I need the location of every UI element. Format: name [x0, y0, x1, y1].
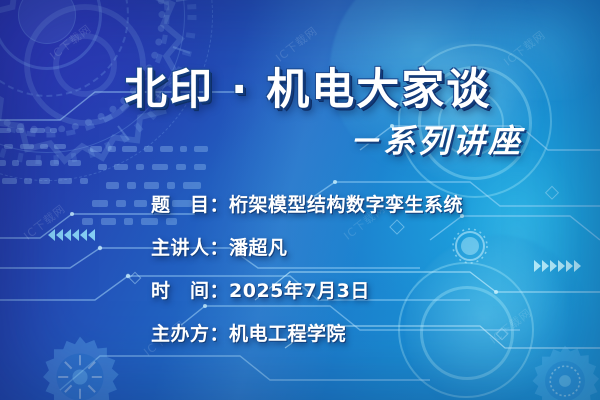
chevron-left-arrows-icon: [48, 229, 95, 241]
gear-bottom-left-icon: [38, 335, 122, 400]
watermark: IC下载网: [20, 201, 68, 244]
poster-title: 北印 · 机电大家谈: [124, 55, 491, 117]
lecture-poster: IC下载网 IC下载网 IC下载网 IC下载网 IC下载网 IC下载网 IC下载…: [0, 0, 600, 400]
info-row-speaker: 主讲人：潘超凡: [151, 233, 571, 260]
gear-bottom-right-icon: [528, 344, 600, 400]
watermark: IC下载网: [46, 21, 94, 64]
info-row-organizer: 主办方：机电工程学院: [151, 319, 571, 346]
watermark: IC下载网: [500, 27, 548, 70]
info-row-topic: 题 目：桁架模型结构数字孪生系统: [151, 190, 571, 217]
info-row-time: 时 间：2025年7月3日: [151, 276, 571, 303]
poster-info-block: 题 目：桁架模型结构数字孪生系统 主讲人：潘超凡 时 间：2025年7月3日 主…: [151, 190, 571, 346]
poster-subtitle: －系列讲座: [348, 116, 523, 162]
